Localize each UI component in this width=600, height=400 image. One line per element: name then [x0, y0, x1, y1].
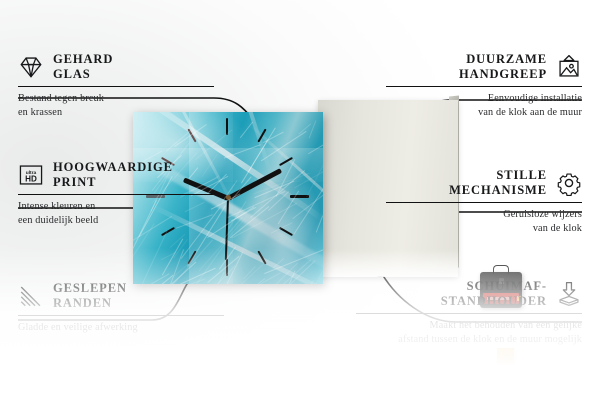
- feature-title: GEHARD GLAS: [53, 52, 113, 83]
- feature-desc-line1: Intense kleuren en: [18, 200, 218, 214]
- feature-divider: [18, 194, 214, 196]
- feature-divider: [386, 202, 582, 204]
- feature-description: Geruisloze wijzers van de klok: [382, 208, 582, 235]
- infographic-canvas: GEHARD GLAS Bestand tegen breuk en krass…: [0, 0, 600, 400]
- feature-title-line1: DUURZAME: [459, 52, 547, 67]
- feature-desc-line2: en krassen: [18, 106, 218, 120]
- feature-divider: [356, 313, 582, 315]
- mechanism-hook: [493, 265, 509, 274]
- feature-title-line1: GESLEPEN: [53, 281, 127, 296]
- feature-desc-line2: een duidelijk beeld: [18, 214, 218, 228]
- bevelled-edges-icon: [18, 283, 44, 309]
- feature-desc-line1: Eenvoudige installatie: [382, 92, 582, 106]
- feature-title-line1: STILLE: [449, 168, 547, 183]
- feature-divider: [386, 86, 582, 88]
- feature-description: Intense kleuren en een duidelijk beeld: [18, 200, 218, 227]
- feature-description: Bestand tegen breuk en krassen: [18, 92, 218, 119]
- feature-title-line1: HOOGWAARDIGE: [53, 160, 173, 175]
- feature-desc-line2: van de klok: [382, 222, 582, 236]
- feature-description: Maakt het behouden van een gelijke afsta…: [352, 319, 582, 346]
- feature-heading: SCHUIMAF- STANDHOUDER: [352, 279, 582, 310]
- feature-duurzame-handgreep: DUURZAME HANDGREEP Eenvoudige installati…: [382, 52, 582, 119]
- feature-title-line2: PRINT: [53, 175, 173, 190]
- feature-schuimaf-standhouder: SCHUIMAF- STANDHOUDER Maakt het behouden…: [352, 279, 582, 346]
- feature-desc-line2: afstand tussen de klok en de muur mogeli…: [352, 333, 582, 347]
- feature-title: GESLEPEN RANDEN: [53, 281, 127, 312]
- feature-heading: ultra HD HOOGWAARDIGE PRINT: [18, 160, 218, 191]
- feature-desc-line2: van de klok aan de muur: [382, 106, 582, 120]
- feature-description: Eenvoudige installatie van de klok aan d…: [382, 92, 582, 119]
- feature-hoogwaardige-print: ultra HD HOOGWAARDIGE PRINT Intense kleu…: [18, 160, 218, 227]
- feature-title-line1: SCHUIMAF-: [441, 279, 547, 294]
- feature-title-line2: HANDGREEP: [459, 67, 547, 82]
- feature-divider: [18, 315, 224, 317]
- feature-stille-mechanisme: STILLE MECHANISME Geruisloze wijzers van…: [382, 168, 582, 235]
- feature-heading: GESLEPEN RANDEN: [18, 281, 228, 312]
- feature-desc-line1: Maakt het behouden van een gelijke: [352, 319, 582, 333]
- feature-title-line2: GLAS: [53, 67, 113, 82]
- feature-title: STILLE MECHANISME: [449, 168, 547, 199]
- feature-title-line2: MECHANISME: [449, 183, 547, 198]
- feature-title-line2: RANDEN: [53, 296, 127, 311]
- feature-heading: DUURZAME HANDGREEP: [382, 52, 582, 83]
- feature-description: Gladde en veilige afwerking: [18, 321, 228, 335]
- feature-desc-line1: Bestand tegen breuk: [18, 92, 218, 106]
- feature-divider: [18, 86, 214, 88]
- feature-desc-line1: Geruisloze wijzers: [382, 208, 582, 222]
- press-down-icon: [556, 281, 582, 307]
- feature-title: HOOGWAARDIGE PRINT: [53, 160, 173, 191]
- hanging-picture-icon: [556, 54, 582, 80]
- foam-spacer: [497, 348, 514, 365]
- ultra-hd-icon: ultra HD: [18, 162, 44, 188]
- feature-geslepen-randen: GESLEPEN RANDEN Gladde en veilige afwerk…: [18, 281, 228, 335]
- svg-text:HD: HD: [25, 175, 37, 184]
- gear-icon: [556, 170, 582, 196]
- feature-heading: GEHARD GLAS: [18, 52, 218, 83]
- diamond-icon: [18, 54, 44, 80]
- feature-title-line1: GEHARD: [53, 52, 113, 67]
- feature-title-line2: STANDHOUDER: [441, 294, 547, 309]
- feature-desc-line1: Gladde en veilige afwerking: [18, 321, 228, 335]
- feature-heading: STILLE MECHANISME: [382, 168, 582, 199]
- feature-title: DUURZAME HANDGREEP: [459, 52, 547, 83]
- feature-gehard-glas: GEHARD GLAS Bestand tegen breuk en krass…: [18, 52, 218, 119]
- feature-title: SCHUIMAF- STANDHOUDER: [441, 279, 547, 310]
